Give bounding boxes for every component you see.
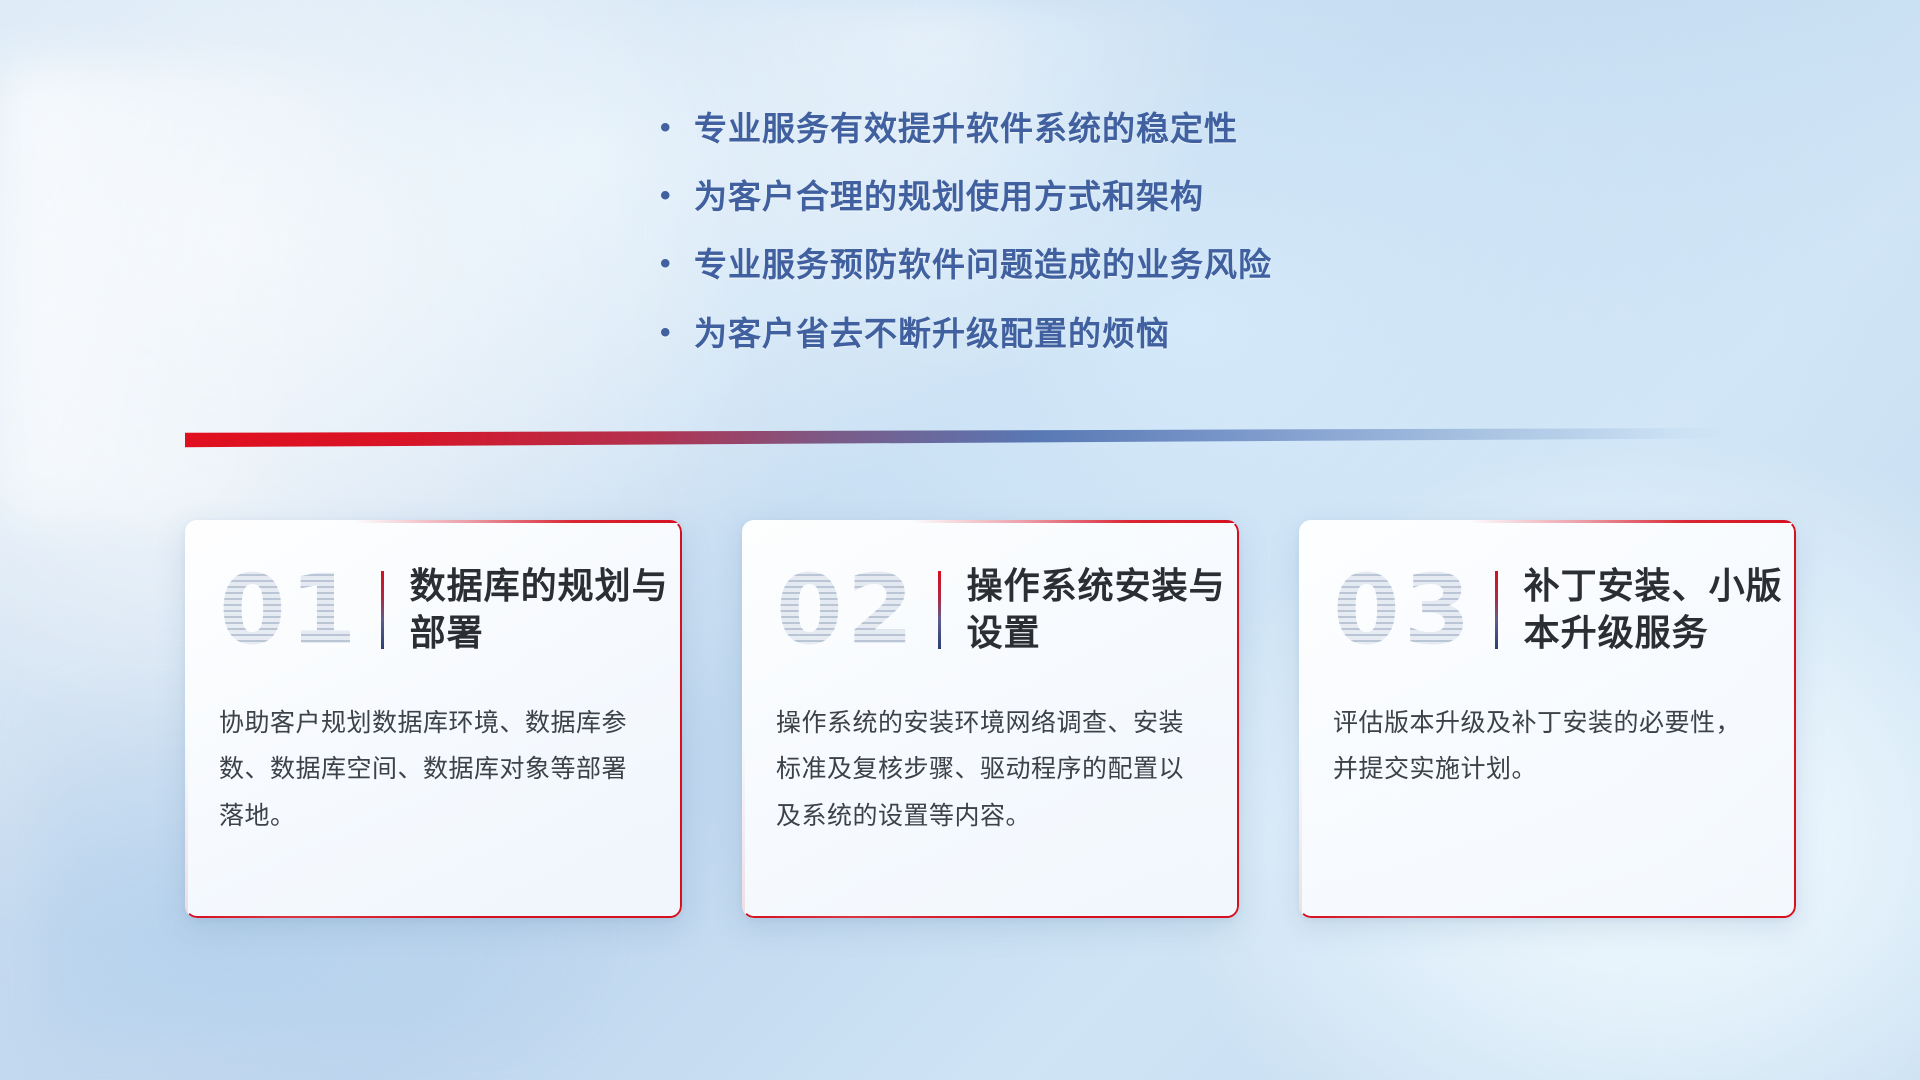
bullet-text: 为客户省去不断升级配置的烦恼 (694, 313, 1560, 355)
section-divider (185, 428, 1730, 448)
list-item: • 为客户合理的规划使用方式和架构 (660, 176, 1560, 218)
card-accent-bottom (185, 916, 682, 919)
background-glow-left (0, 65, 461, 519)
service-card-list: 01 数据库的规划与部署 协助客户规划数据库环境、数据库参数、数据库空间、数据库… (185, 520, 1796, 918)
bullet-dot-icon: • (660, 313, 694, 354)
bullet-dot-icon: • (660, 244, 694, 285)
service-card-02[interactable]: 02 操作系统安装与设置 操作系统的安装环境网络调查、安装标准及复核步骤、驱动程… (742, 520, 1239, 918)
card-body-text: 操作系统的安装环境网络调查、安装标准及复核步骤、驱动程序的配置以及系统的设置等内… (742, 700, 1239, 839)
card-number: 03 (1333, 562, 1475, 658)
bullet-text: 专业服务预防软件问题造成的业务风险 (694, 244, 1560, 286)
card-title: 操作系统安装与设置 (967, 563, 1237, 657)
card-divider-icon (938, 571, 941, 649)
bullet-text: 专业服务有效提升软件系统的稳定性 (694, 108, 1560, 150)
card-header: 01 数据库的规划与部署 (185, 520, 682, 700)
card-title: 补丁安装、小版本升级服务 (1524, 563, 1794, 657)
card-body-text: 协助客户规划数据库环境、数据库参数、数据库空间、数据库对象等部署落地。 (185, 700, 682, 839)
card-divider-icon (381, 571, 384, 649)
card-divider-icon (1495, 571, 1498, 649)
card-number: 02 (776, 562, 918, 658)
bullet-text: 为客户合理的规划使用方式和架构 (694, 176, 1560, 218)
service-card-01[interactable]: 01 数据库的规划与部署 协助客户规划数据库环境、数据库参数、数据库空间、数据库… (185, 520, 682, 918)
card-number: 01 (219, 562, 361, 658)
list-item: • 专业服务预防软件问题造成的业务风险 (660, 244, 1560, 286)
bullet-dot-icon: • (660, 108, 694, 149)
list-item: • 为客户省去不断升级配置的烦恼 (660, 313, 1560, 355)
card-title: 数据库的规划与部署 (410, 563, 680, 657)
card-header: 02 操作系统安装与设置 (742, 520, 1239, 700)
divider-bar (185, 428, 1730, 448)
list-item: • 专业服务有效提升软件系统的稳定性 (660, 108, 1560, 150)
card-header: 03 补丁安装、小版本升级服务 (1299, 520, 1796, 700)
card-accent-bottom (1299, 916, 1796, 919)
card-body-text: 评估版本升级及补丁安装的必要性，并提交实施计划。 (1299, 700, 1796, 793)
service-card-03[interactable]: 03 补丁安装、小版本升级服务 评估版本升级及补丁安装的必要性，并提交实施计划。 (1299, 520, 1796, 918)
bullet-dot-icon: • (660, 176, 694, 217)
card-accent-bottom (742, 916, 1239, 919)
benefits-bullet-list: • 专业服务有效提升软件系统的稳定性 • 为客户合理的规划使用方式和架构 • 专… (660, 108, 1560, 381)
